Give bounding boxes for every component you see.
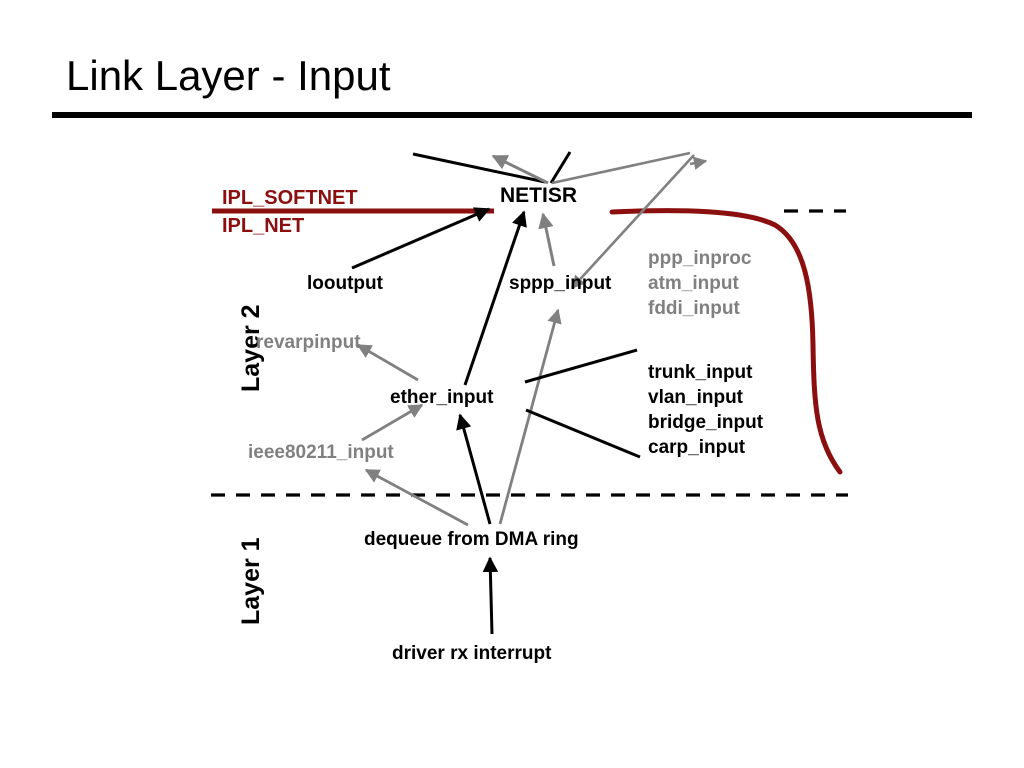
gray-group-item-0: ppp_inproc (648, 246, 751, 271)
edge-dequeue-to-sppp-input (500, 310, 558, 524)
ipl-net-label: IPL_NET (222, 216, 304, 236)
edge-netisr-up-left-gray (493, 156, 548, 183)
gray-group-item-2: fddi_input (648, 296, 751, 321)
black-group-item-0: trunk_input (648, 360, 763, 385)
node-revarpinput: revarpinput (256, 333, 361, 352)
node-driver-rx-interrupt: driver rx interrupt (392, 644, 551, 663)
edge-ether-input-to-netisr (465, 212, 524, 385)
edge-driver-rx-to-dequeue (490, 558, 492, 634)
node-ether-input: ether_input (390, 388, 493, 407)
edge-ieee80211-to-ether-input (362, 405, 422, 440)
black-pseudo-interface-input-group: trunk_input vlan_input bridge_input carp… (648, 360, 763, 460)
node-looutput: looutput (307, 274, 383, 293)
edge-sppp-input-to-netisr (543, 214, 554, 266)
edge-netisr-up-stub-black (551, 152, 570, 183)
layer-1-label: Layer 1 (237, 537, 266, 625)
slide: Link Layer - Input (0, 0, 1024, 768)
node-netisr: NETISR (500, 185, 577, 206)
link-layer-input-diagram: IPL_SOFTNET IPL_NET Layer 2 Layer 1 NETI… (0, 0, 1024, 768)
gray-group-item-1: atm_input (648, 271, 751, 296)
node-ieee80211-input: ieee80211_input (248, 443, 394, 462)
edge-dequeue-to-ether-input (460, 415, 490, 524)
edge-dequeue-to-ieee80211 (366, 470, 468, 525)
ipl-softnet-label: IPL_SOFTNET (222, 188, 358, 208)
gray-protocol-input-group: ppp_inproc atm_input fddi_input (648, 246, 751, 321)
edge-netisr-up-right-gray (552, 153, 690, 183)
black-group-item-1: vlan_input (648, 385, 763, 410)
connector-ether-input-to-carp-group (526, 410, 640, 457)
edge-ether-input-to-revarpinput (358, 345, 418, 380)
black-group-item-2: bridge_input (648, 410, 763, 435)
edge-netisr-up-left-black (413, 154, 545, 182)
node-sppp-input: sppp_input (509, 274, 611, 293)
edge-far-right-gray-arrowhead (690, 161, 706, 164)
black-group-item-3: carp_input (648, 435, 763, 460)
node-dequeue-from-dma-ring: dequeue from DMA ring (364, 530, 579, 549)
edge-looutput-to-netisr (352, 209, 489, 268)
